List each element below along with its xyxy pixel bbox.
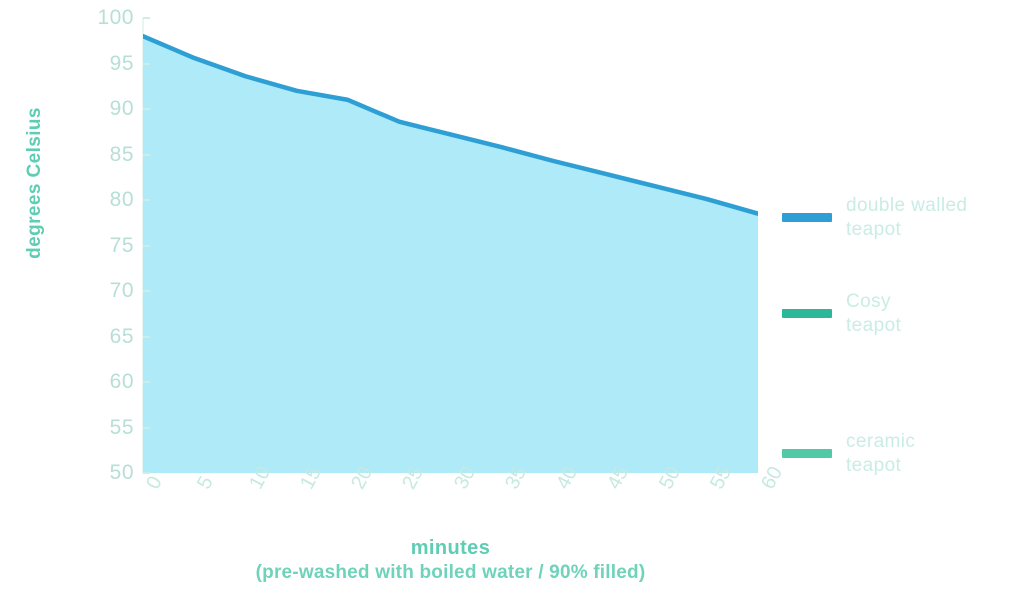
y-tick-label: 75	[70, 235, 134, 256]
x-axis-subtitle: (pre-washed with boiled water / 90% fill…	[143, 561, 758, 585]
legend-label-line1: double walled	[846, 194, 967, 218]
x-axis-title-group: minutes (pre-washed with boiled water / …	[143, 536, 758, 585]
y-tick-mark	[143, 290, 150, 292]
legend-label: Cosyteapot	[846, 290, 901, 338]
legend-entry[interactable]: double walledteapot	[782, 194, 967, 242]
y-tick-mark	[143, 245, 150, 247]
legend-entry[interactable]: ceramicteapot	[782, 430, 915, 478]
legend-label-line1: ceramic	[846, 430, 915, 454]
series-area-double-walled-teapot	[143, 36, 758, 473]
legend-entry[interactable]: Cosyteapot	[782, 290, 901, 338]
y-tick-mark	[143, 381, 150, 383]
x-tick-label: 0	[143, 473, 166, 492]
y-tick-label: 50	[70, 462, 134, 483]
legend-label: ceramicteapot	[846, 430, 915, 478]
y-tick-mark	[143, 63, 150, 65]
x-axis-tick-labels: 051015202530354045505560	[143, 477, 758, 537]
legend-swatch-icon	[782, 309, 832, 318]
legend-swatch-icon	[782, 213, 832, 222]
legend-label-line2: teapot	[846, 218, 967, 242]
chart-figure: 50556065707580859095100 0510152025303540…	[0, 0, 1024, 613]
y-tick-mark	[143, 17, 150, 19]
x-axis-title: minutes	[143, 536, 758, 561]
y-axis-tick-labels: 50556065707580859095100	[62, 18, 134, 473]
y-tick-label: 65	[70, 326, 134, 347]
y-tick-label: 60	[70, 371, 134, 392]
y-tick-mark	[143, 199, 150, 201]
plot-area	[143, 18, 758, 473]
y-axis-title: degrees Celsius	[24, 88, 46, 278]
y-tick-mark	[143, 108, 150, 110]
series-canvas	[143, 18, 758, 473]
y-tick-label: 80	[70, 189, 134, 210]
y-tick-label: 90	[70, 98, 134, 119]
legend-label-line1: Cosy	[846, 290, 901, 314]
x-tick-label: 5	[194, 473, 217, 492]
legend-label-line2: teapot	[846, 454, 915, 478]
legend-label: double walledteapot	[846, 194, 967, 242]
y-tick-label: 95	[70, 53, 134, 74]
y-tick-label: 55	[70, 417, 134, 438]
y-tick-mark	[143, 154, 150, 156]
legend-swatch-icon	[782, 449, 832, 458]
y-tick-label: 100	[70, 7, 134, 28]
y-tick-mark	[143, 472, 150, 474]
y-tick-label: 85	[70, 144, 134, 165]
legend-label-line2: teapot	[846, 314, 901, 338]
y-tick-label: 70	[70, 280, 134, 301]
y-tick-mark	[143, 336, 150, 338]
y-tick-mark	[143, 427, 150, 429]
